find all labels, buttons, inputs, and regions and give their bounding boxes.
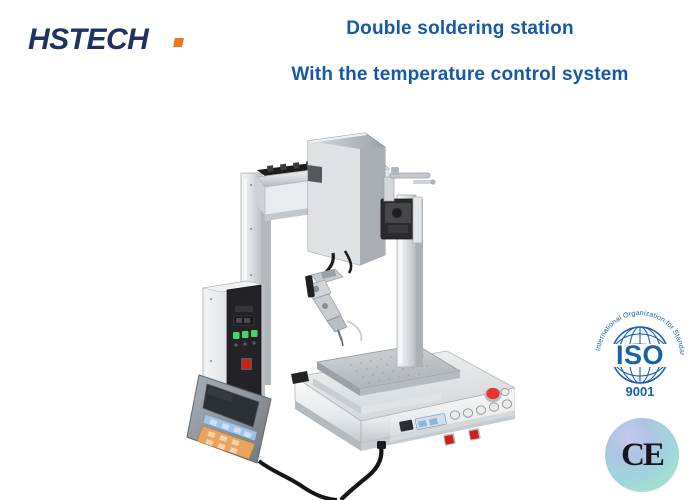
- title-block: Double soldering station With the temper…: [230, 14, 690, 90]
- knob-6: [501, 388, 509, 395]
- page-title: Double soldering station: [230, 14, 690, 44]
- soldering-head-assembly: [305, 251, 361, 346]
- knob-1: [450, 411, 459, 419]
- led-button-2: [242, 331, 249, 338]
- iso-9001-badge: International Organization for Standardi…: [588, 303, 692, 403]
- logo-accent-dot-icon: [173, 38, 184, 47]
- power-button: [242, 359, 251, 369]
- soldering-station-illustration: [185, 125, 515, 500]
- power-switch-2: [469, 430, 479, 440]
- z-axis-carriage: [308, 133, 385, 265]
- cable-plug: [377, 441, 386, 449]
- power-switch-1: [444, 435, 454, 445]
- pendant-cable: [259, 461, 337, 500]
- panel-label: [235, 306, 253, 312]
- knob-4: [489, 403, 498, 411]
- knob-5: [502, 400, 511, 408]
- ce-mark-text: CE: [605, 418, 679, 492]
- emergency-stop-button: [486, 388, 499, 399]
- product-photo: [185, 125, 515, 500]
- knob-2: [463, 409, 472, 417]
- ce-mark-badge: CE: [597, 412, 687, 500]
- product-banner: HSTECH Double soldering station With the…: [0, 0, 700, 500]
- led-button-3: [251, 330, 258, 337]
- iso-9001-icon: International Organization for Standardi…: [588, 303, 692, 403]
- solder-wire-feeder: [381, 167, 436, 243]
- knob-3: [476, 406, 485, 414]
- led-button-1: [233, 332, 240, 339]
- iso-standard-number: 9001: [626, 384, 655, 399]
- power-cable: [341, 447, 381, 500]
- brand-logo: HSTECH: [28, 18, 218, 62]
- page-subtitle: With the temperature control system: [230, 60, 690, 90]
- brand-logo-text: HSTECH: [28, 18, 218, 62]
- iso-mark-text: ISO: [616, 340, 664, 370]
